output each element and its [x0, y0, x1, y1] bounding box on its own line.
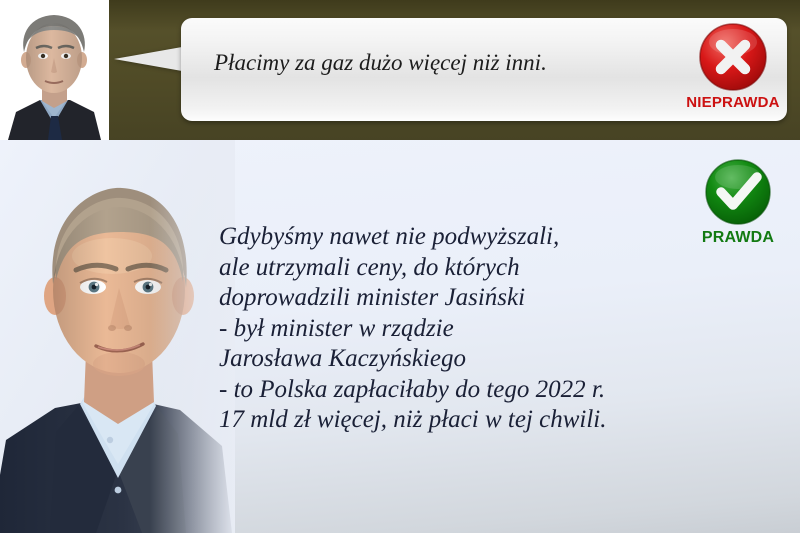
statement-line: 17 mld zł więcej, niż płaci w tej chwili…	[219, 405, 719, 436]
statement-line: - był minister w rządzie	[219, 314, 719, 345]
x-mark-icon	[698, 22, 768, 92]
statement-line: doprowadzili minister Jasiński	[219, 283, 719, 314]
main-statement-panel: PRAWDA Gdybyśmy nawet nie podwyższali, a…	[0, 140, 800, 533]
statement-line: Gdybyśmy nawet nie podwyższali,	[219, 222, 719, 253]
check-mark-icon	[704, 158, 772, 226]
verdict-label-false: NIEPRAWDA	[681, 94, 785, 111]
portrait-top-speaker-image	[0, 0, 109, 140]
verdict-badge-false: NIEPRAWDA	[681, 22, 785, 118]
portrait-top-speaker	[0, 0, 109, 140]
portrait-main-speaker	[0, 140, 235, 533]
statement-line: - to Polska zapłaciłaby do tego 2022 r.	[219, 375, 719, 406]
speech-bubble-tail	[114, 47, 182, 71]
statement-line: ale utrzymali ceny, do których	[219, 253, 719, 284]
main-statement-text: Gdybyśmy nawet nie podwyższali, ale utrz…	[219, 222, 719, 436]
top-claim-text: Płacimy za gaz dużo więcej niż inni.	[214, 50, 664, 76]
portrait-main-speaker-image	[0, 140, 235, 533]
fact-check-graphic: Płacimy za gaz dużo więcej niż inni.	[0, 0, 800, 533]
statement-line: Jarosława Kaczyńskiego	[219, 344, 719, 375]
